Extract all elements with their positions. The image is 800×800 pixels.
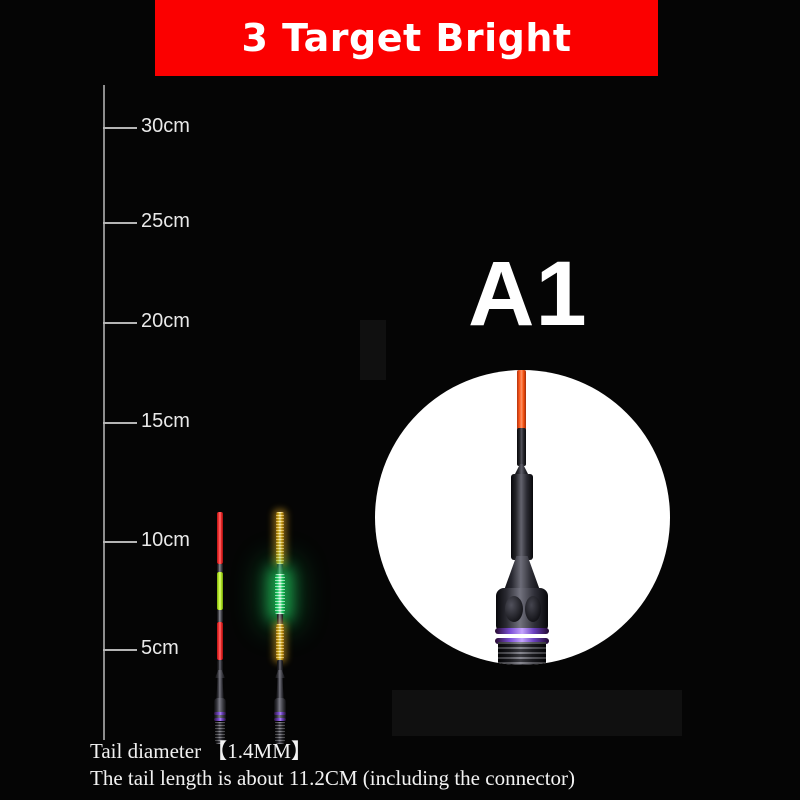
tick-label: 30cm — [141, 115, 190, 138]
connector-head — [214, 698, 226, 720]
amber-segment-top — [276, 512, 284, 564]
amber-segment-lower — [276, 624, 284, 660]
ruler-axis-line — [103, 85, 105, 740]
product-spec-image: 3 Target Bright 30cm 25cm 20cm 15cm 10cm… — [0, 0, 800, 800]
tick-label: 25cm — [141, 210, 190, 233]
title-banner: 3 Target Bright — [155, 0, 658, 76]
tip-shaft-gap-1 — [277, 564, 283, 574]
green-glow-segment-middle — [275, 574, 285, 614]
caption-line-tail-diameter: Tail diameter 【1.4MM】 — [90, 738, 575, 765]
background-artifact-lower — [392, 690, 682, 736]
connector-knuckle-notch-right — [525, 596, 541, 622]
red-segment-lower — [217, 622, 223, 660]
tip-shaft-gap-1 — [217, 564, 223, 572]
tick-mark — [103, 541, 137, 543]
float-daylight — [212, 512, 228, 732]
tick-mark — [103, 127, 137, 129]
purple-ring-upper — [495, 628, 549, 634]
purple-ring-lower — [274, 718, 286, 721]
tick-mark — [103, 649, 137, 651]
purple-ring-upper — [214, 712, 226, 715]
background-artifact-upper — [360, 320, 386, 380]
red-segment-top — [217, 512, 223, 564]
threaded-end — [498, 642, 546, 665]
tip-shaft-gap-2 — [277, 614, 283, 624]
tick-label: 5cm — [141, 637, 179, 660]
connector-closeup-circle — [375, 370, 670, 665]
green-segment-middle — [217, 572, 223, 610]
tip-shaft-gap-2 — [217, 610, 223, 622]
caption-line-tail-length: The tail length is about 11.2CM (includi… — [90, 765, 575, 792]
tick-mark — [103, 422, 137, 424]
purple-ring-upper — [274, 712, 286, 715]
tick-label: 15cm — [141, 410, 190, 433]
banner-title: 3 Target Bright — [241, 19, 571, 57]
body-shaft — [511, 474, 533, 560]
float-illuminated — [272, 512, 288, 732]
model-label: A1 — [468, 248, 588, 340]
upper-shaft — [517, 428, 526, 466]
tick-mark — [103, 222, 137, 224]
tick-label: 10cm — [141, 529, 190, 552]
tick-label: 20cm — [141, 310, 190, 333]
measurement-ruler: 30cm 25cm 20cm 15cm 10cm 5cm — [90, 85, 210, 740]
connector-head — [274, 698, 286, 720]
caption-block: Tail diameter 【1.4MM】 The tail length is… — [90, 738, 575, 792]
orange-tip — [517, 370, 526, 430]
tick-mark — [103, 322, 137, 324]
connector-knuckle-notch-left — [505, 596, 523, 622]
purple-ring-lower — [214, 718, 226, 721]
